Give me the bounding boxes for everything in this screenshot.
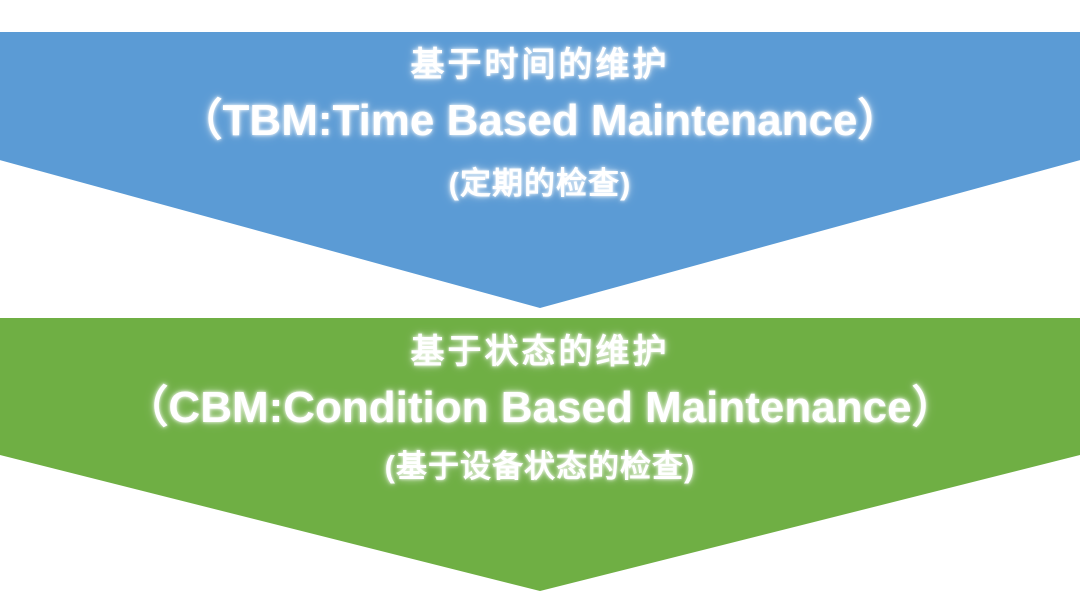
maintenance-strategy-diagram: 基于时间的维护 （TBM:Time Based Maintenance） (定期… [0, 0, 1080, 604]
tbm-chevron-shape [0, 32, 1080, 308]
tbm-chevron-block[interactable] [0, 32, 1080, 308]
cbm-chevron-shape [0, 318, 1080, 591]
cbm-chevron-block[interactable] [0, 318, 1080, 591]
chevron-shapes-layer [0, 0, 1080, 604]
